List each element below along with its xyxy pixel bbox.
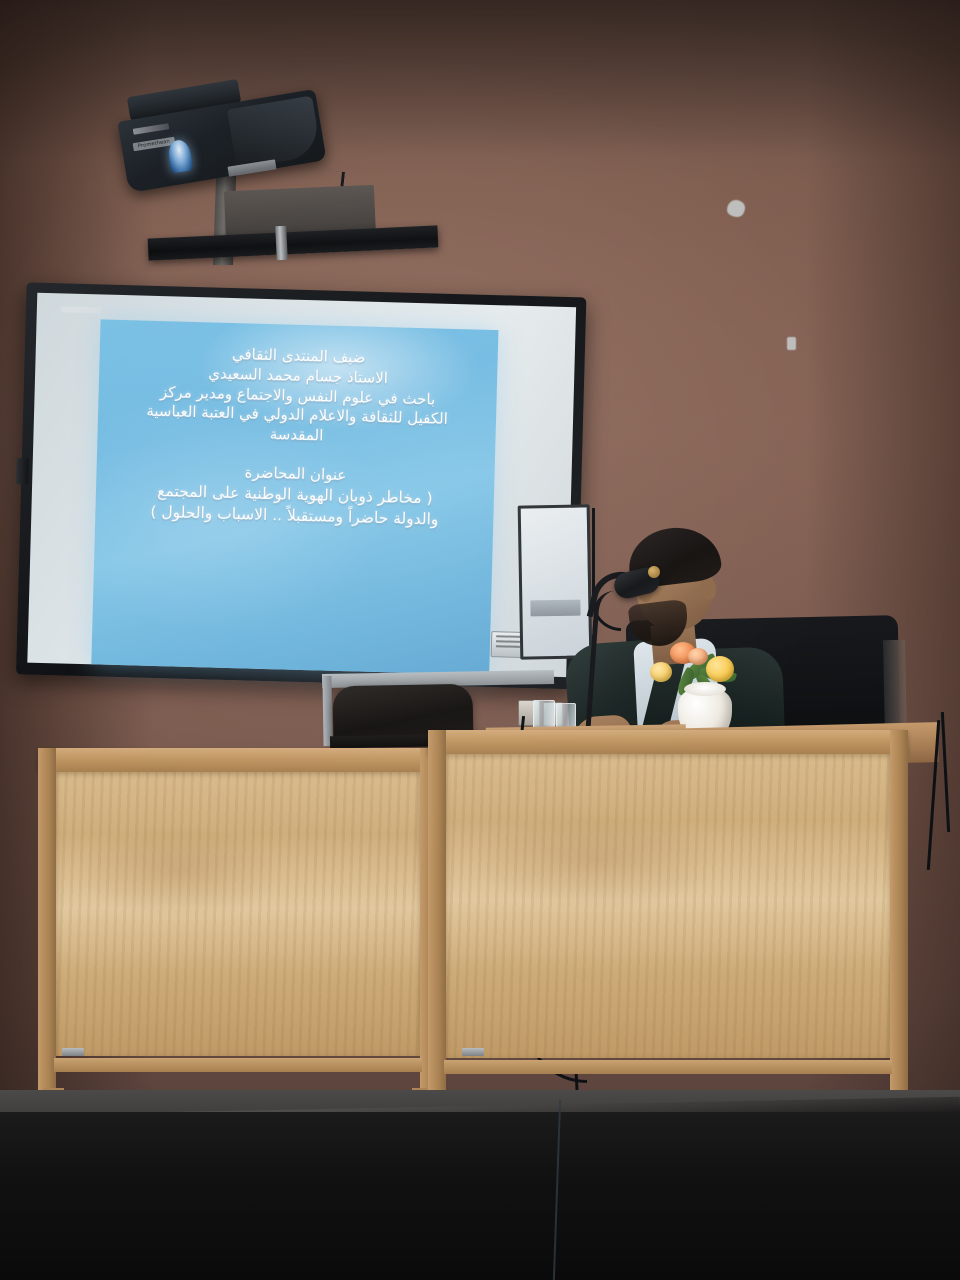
interactive-whiteboard[interactable]: ضيف المنتدى الثقافي الاستاذ جسام محمد ال…: [16, 222, 594, 689]
whiteboard-surface[interactable]: ضيف المنتدى الثقافي الاستاذ جسام محمد ال…: [27, 293, 576, 677]
bench-left[interactable]: [38, 748, 438, 1100]
bench-top-rail: [38, 748, 438, 772]
bench-bottom-rail: [54, 1058, 422, 1072]
whiteboard-brand-label: [61, 306, 101, 313]
slide-text-body: ضيف المنتدى الثقافي الاستاذ جسام محمد ال…: [91, 319, 498, 675]
sticker-line: [496, 645, 520, 648]
projected-slide: ضيف المنتدى الثقافي الاستاذ جسام محمد ال…: [91, 319, 498, 675]
bench-back-panel: [56, 772, 420, 1056]
whiteboard-side-clip[interactable]: [16, 458, 29, 484]
photo-scene: Promethean ضيف المنتدى الثقافي الاستاذ ج…: [0, 0, 960, 1280]
bloom-yellow-left: [650, 662, 672, 682]
bench-top-rail: [428, 730, 908, 754]
bench-leg-right: [890, 730, 908, 1102]
bench-right[interactable]: [428, 730, 908, 1102]
bench-leg-left: [38, 748, 56, 1100]
whiteboard-frame: ضيف المنتدى الثقافي الاستاذ جسام محمد ال…: [16, 282, 586, 689]
bench-bracket: [462, 1048, 484, 1056]
floor-carpet: [0, 1112, 960, 1280]
bloom-peach: [688, 648, 708, 665]
wall-mark-lower: [787, 337, 796, 350]
bench-bracket: [62, 1048, 84, 1056]
bench-bottom-rail: [444, 1060, 892, 1074]
bloom-yellow-right: [706, 656, 734, 682]
bench-leg-left: [428, 730, 446, 1102]
wall-mark-upper: [727, 200, 745, 217]
microphone-tip-light: [648, 566, 660, 578]
bench-back-panel: [446, 754, 890, 1058]
